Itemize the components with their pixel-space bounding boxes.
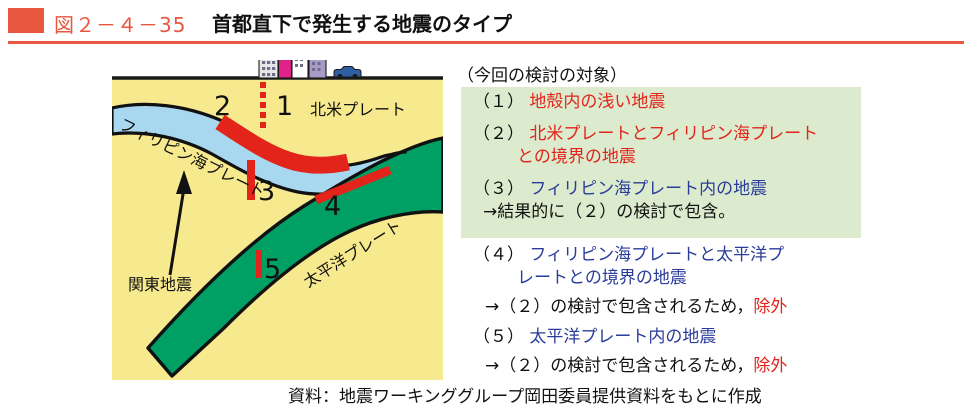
surface-objects bbox=[259, 60, 361, 79]
marker-label-5: 5 bbox=[264, 254, 281, 285]
list-item-5-note-prefix: →（２）の検討で包含されるため， bbox=[485, 356, 753, 376]
list-item-4-text-line2: レートとの境界の地震 bbox=[517, 267, 687, 290]
list-item-5-number: （５） bbox=[473, 327, 524, 347]
label-kanto-earthquake: 関東地震 bbox=[128, 275, 192, 294]
list-item-1-text: 地殻内の浅い地震 bbox=[529, 92, 665, 112]
list-item-3-text: フィリピン海プレート内の地震 bbox=[529, 179, 767, 199]
page-title: 首都直下で発生する地震のタイプ bbox=[212, 8, 512, 37]
list-item-5-note-emphasis: 除外 bbox=[753, 356, 787, 376]
figure-number: 図２－４－35 bbox=[54, 9, 186, 38]
plate-cross-section-diagram: 1 2 3 4 5 北米プレート フィリピン海プレート 太平洋プレート 関東地震 bbox=[112, 60, 443, 380]
list-item-2: （２） 北米プレートとフィリピン海プレート bbox=[473, 123, 818, 146]
list-item-4-note-emphasis: 除外 bbox=[753, 297, 787, 317]
list-item-5: （５） 太平洋プレート内の地震 bbox=[473, 326, 716, 349]
list-item-5-text: 太平洋プレート内の地震 bbox=[529, 327, 716, 347]
marker-label-2: 2 bbox=[214, 91, 231, 122]
building-white bbox=[292, 60, 308, 78]
car bbox=[334, 67, 361, 80]
building-magenta bbox=[279, 60, 292, 78]
list-item-3-note: →結果的に（２）の検討で包含。 bbox=[483, 201, 735, 224]
list-item-4-text: フィリピン海プレートと太平洋プ bbox=[529, 245, 784, 265]
marker-label-1: 1 bbox=[276, 91, 293, 122]
list-item-3-number: （３） bbox=[473, 179, 524, 199]
source-note: 資料：地震ワーキンググループ岡田委員提供資料をもとに作成 bbox=[288, 382, 762, 407]
list-item-2-text: 北米プレートとフィリピン海プレート bbox=[529, 124, 818, 144]
earthquake-type-list-panel: （今回の検討の対象） （１） 地殻内の浅い地震 （２） 北米プレートとフィリピン… bbox=[455, 58, 967, 378]
figure-root: 図２－４－35 首都直下で発生する地震のタイプ bbox=[0, 0, 972, 414]
panel-heading: （今回の検討の対象） bbox=[457, 61, 627, 86]
header-accent-swatch bbox=[8, 8, 44, 33]
list-item-3: （３） フィリピン海プレート内の地震 bbox=[473, 178, 767, 201]
list-item-1-number: （１） bbox=[473, 92, 524, 112]
label-north-american-plate: 北米プレート bbox=[310, 100, 406, 119]
list-item-4-number: （４） bbox=[473, 245, 524, 265]
list-item-5-note: →（２）の検討で包含されるため，除外 bbox=[485, 355, 787, 378]
header-rule bbox=[8, 41, 964, 44]
list-item-4-note: →（２）の検討で包含されるため，除外 bbox=[485, 296, 787, 319]
list-item-2-text-line2: との境界の地震 bbox=[517, 146, 636, 169]
list-item-2-number: （２） bbox=[473, 124, 524, 144]
marker-label-4: 4 bbox=[324, 191, 341, 222]
list-item-4-note-prefix: →（２）の検討で包含されるため， bbox=[485, 297, 753, 317]
list-item-4: （４） フィリピン海プレートと太平洋プ bbox=[473, 244, 784, 267]
marker-5-bar bbox=[256, 250, 262, 278]
list-item-1: （１） 地殻内の浅い地震 bbox=[473, 91, 665, 114]
